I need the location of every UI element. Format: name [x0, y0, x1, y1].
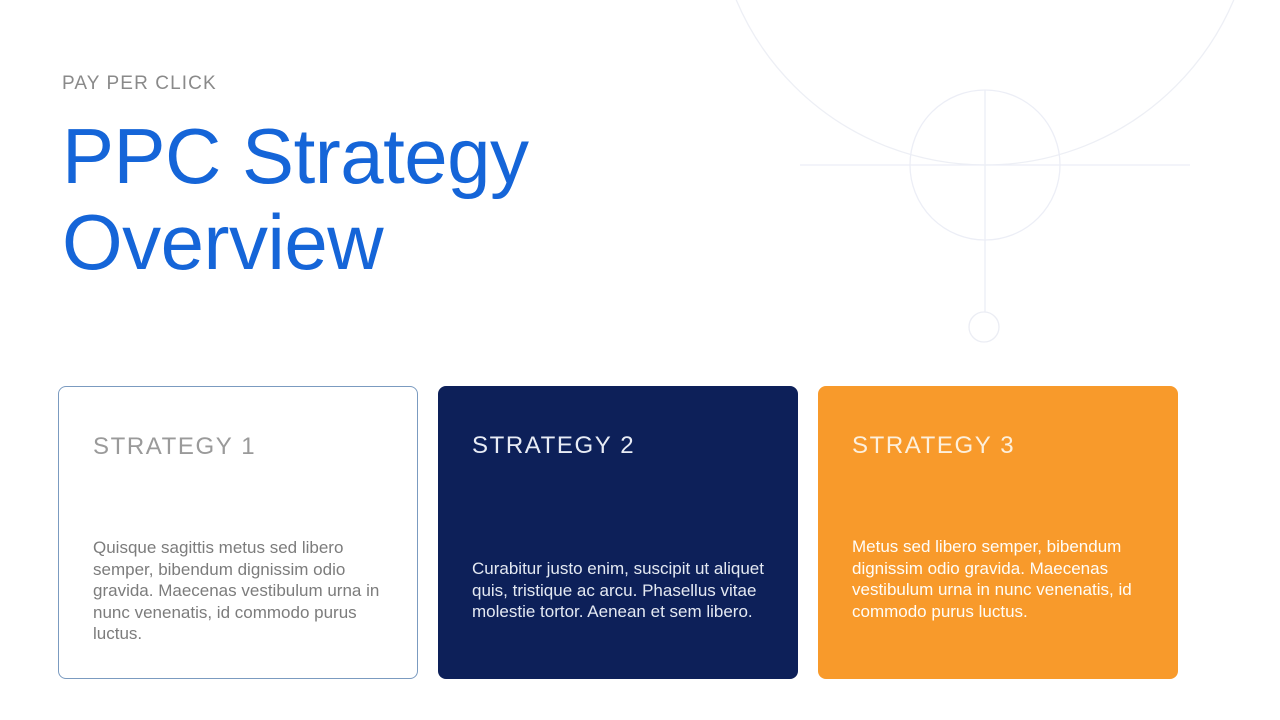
strategy-card-1-title: STRATEGY 1 [93, 433, 383, 461]
strategy-card-2-body: Curabitur justo enim, suscipit ut alique… [472, 558, 772, 623]
strategy-card-3[interactable]: STRATEGY 3 Metus sed libero semper, bibe… [818, 386, 1178, 679]
strategy-card-1[interactable]: STRATEGY 1 Quisque sagittis metus sed li… [58, 386, 418, 679]
strategy-card-row: STRATEGY 1 Quisque sagittis metus sed li… [58, 386, 1180, 679]
strategy-card-1-body: Quisque sagittis metus sed libero semper… [93, 537, 387, 645]
strategy-card-3-title: STRATEGY 3 [852, 432, 1144, 460]
strategy-card-3-body: Metus sed libero semper, bibendum dignis… [852, 536, 1160, 622]
page-title: PPC Strategy Overview [62, 113, 702, 285]
medium-circle-decor [910, 90, 1060, 240]
small-circle-decor [969, 312, 999, 342]
slide-canvas: PAY PER CLICK PPC Strategy Overview STRA… [0, 0, 1280, 720]
eyebrow-label: PAY PER CLICK [62, 72, 702, 96]
strategy-card-2[interactable]: STRATEGY 2 Curabitur justo enim, suscipi… [438, 386, 798, 679]
strategy-card-2-title: STRATEGY 2 [472, 432, 764, 460]
large-circle-decor [715, 0, 1255, 165]
slide-header: PAY PER CLICK PPC Strategy Overview [62, 72, 702, 285]
